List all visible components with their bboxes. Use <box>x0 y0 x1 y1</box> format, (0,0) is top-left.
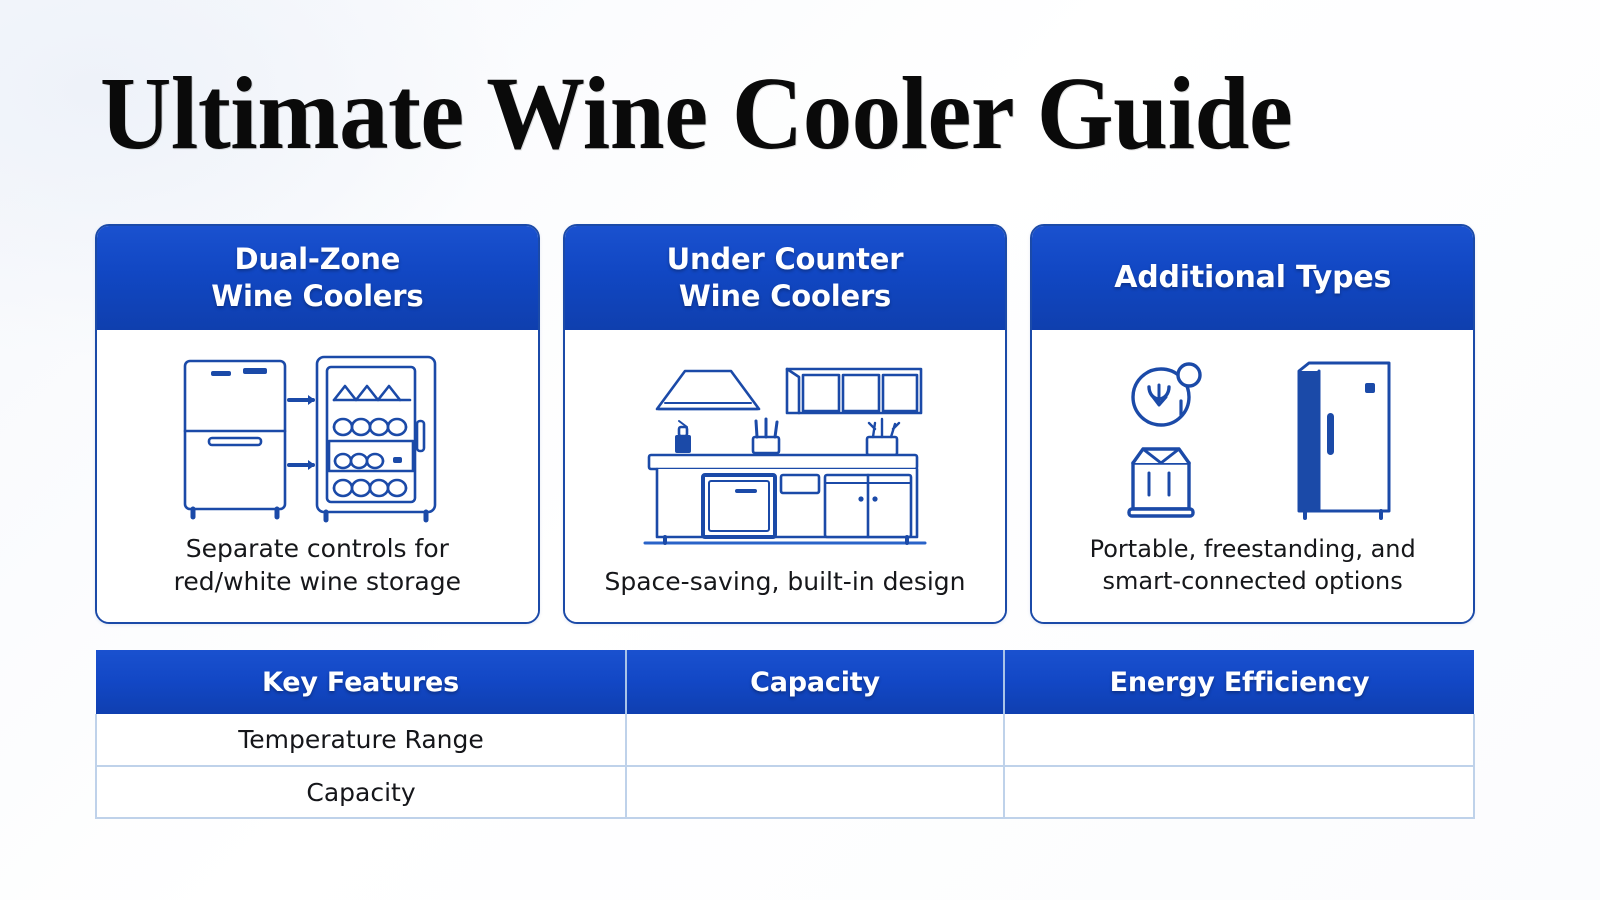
card-header-dual-zone: Dual-Zone Wine Coolers <box>97 226 538 330</box>
table-header-key-features[interactable]: Key Features <box>96 650 626 714</box>
card-title-additional-types: Additional Types <box>1114 259 1391 297</box>
card-under-counter-wine-coolers[interactable]: Under Counter Wine Coolers <box>563 224 1008 624</box>
card-header-additional-types: Additional Types <box>1032 226 1473 330</box>
portable-smart-freestanding-icon <box>1048 344 1457 534</box>
card-header-under-counter: Under Counter Wine Coolers <box>565 226 1006 330</box>
card-body-additional-types: Portable, freestanding, and smart-connec… <box>1032 330 1473 622</box>
card-dual-zone-wine-coolers[interactable]: Dual-Zone Wine Coolers <box>95 224 540 624</box>
cell-capacity: Capacity <box>96 766 626 818</box>
table-header-energy-efficiency[interactable]: Energy Efficiency <box>1004 650 1474 714</box>
cell-temperature-range: Temperature Range <box>96 714 626 766</box>
card-body-under-counter: Space-saving, built-in design <box>565 330 1006 622</box>
comparison-table: Key Features Capacity Energy Efficiency … <box>95 650 1475 819</box>
card-caption-dual-zone: Separate controls for red/white wine sto… <box>174 532 461 603</box>
card-title-dual-zone: Dual-Zone Wine Coolers <box>211 241 423 315</box>
card-caption-under-counter: Space-saving, built-in design <box>605 565 966 602</box>
two-fridge-comparison-icon <box>113 344 522 532</box>
table-header-row: Key Features Capacity Energy Efficiency <box>96 650 1474 714</box>
table-row: Capacity <box>96 766 1474 818</box>
card-body-dual-zone: Separate controls for red/white wine sto… <box>97 330 538 622</box>
page-title: Ultimate Wine Cooler Guide <box>100 62 1430 166</box>
card-title-under-counter: Under Counter Wine Coolers <box>667 241 904 315</box>
table-row: Temperature Range <box>96 714 1474 766</box>
card-row: Dual-Zone Wine Coolers <box>95 224 1475 624</box>
cell-temperature-range-energy <box>1004 714 1474 766</box>
cell-capacity-energy <box>1004 766 1474 818</box>
table-header-capacity[interactable]: Capacity <box>626 650 1004 714</box>
card-caption-additional-types: Portable, freestanding, and smart-connec… <box>1090 534 1416 602</box>
infographic-page: Ultimate Wine Cooler Guide Dual-Zone Win… <box>0 0 1600 900</box>
cell-capacity-capacity <box>626 766 1004 818</box>
kitchen-counter-builtin-icon <box>581 344 990 565</box>
cell-temperature-range-capacity <box>626 714 1004 766</box>
card-additional-types[interactable]: Additional Types <box>1030 224 1475 624</box>
